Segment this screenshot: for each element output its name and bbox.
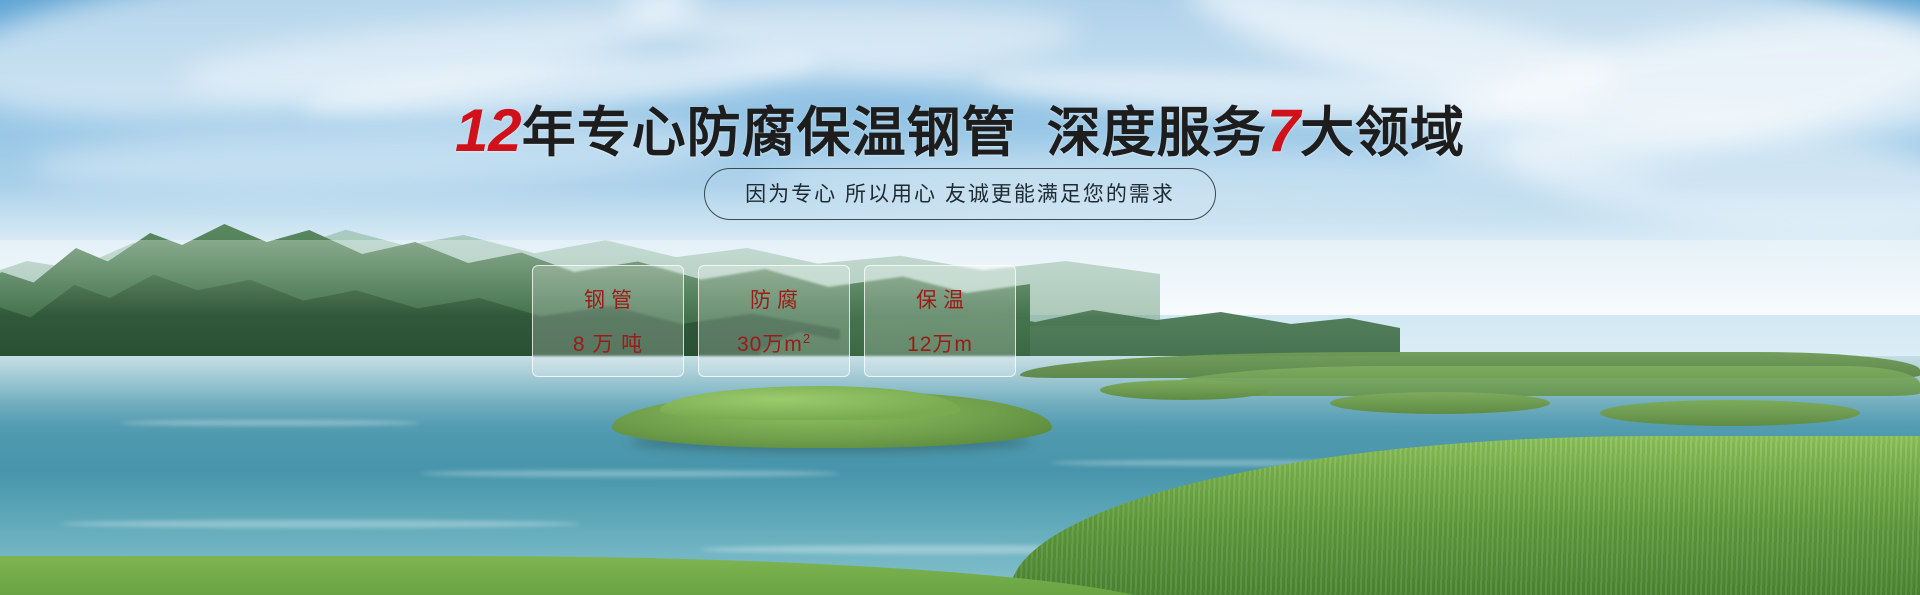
- stat-card-value-text: 30万m: [737, 333, 803, 356]
- stat-card-value-exponent: 2: [803, 331, 811, 346]
- headline-middle: 专心防腐保温钢管: [577, 103, 1017, 163]
- hero-banner: 12年专心防腐保温钢管深度服务7大领域 因为专心 所以用心 友诚更能满足您的需求…: [0, 0, 1920, 595]
- stat-card-steel-pipe[interactable]: 钢管 8 万 吨: [532, 265, 684, 377]
- stat-card-value-text: 8 万 吨: [573, 333, 643, 356]
- headline-domains-suffix: 大领域: [1300, 103, 1465, 163]
- stat-card-anticorrosion[interactable]: 防腐 30万m2: [698, 265, 850, 377]
- stat-card-value: 8 万 吨: [573, 328, 643, 358]
- headline: 12年专心防腐保温钢管深度服务7大领域: [0, 88, 1920, 167]
- stat-card-label: 保温: [910, 284, 970, 314]
- headline-service: 深度服务: [1047, 103, 1267, 163]
- stat-card-value-text: 12万m: [907, 333, 973, 356]
- stat-card-group: 钢管 8 万 吨 防腐 30万m2 保温 12万m: [532, 265, 1016, 377]
- stat-card-label: 防腐: [744, 284, 804, 314]
- headline-years-suffix: 年: [522, 103, 577, 163]
- headline-years-number: 12: [455, 97, 522, 164]
- subtitle-pill: 因为专心 所以用心 友诚更能满足您的需求: [704, 168, 1216, 220]
- stat-card-insulation[interactable]: 保温 12万m: [864, 265, 1016, 377]
- stat-card-value: 12万m: [907, 328, 973, 358]
- headline-domains-number: 7: [1267, 97, 1300, 164]
- stat-card-value: 30万m2: [737, 328, 811, 358]
- banner-content: 12年专心防腐保温钢管深度服务7大领域 因为专心 所以用心 友诚更能满足您的需求…: [0, 0, 1920, 595]
- subtitle-wrapper: 因为专心 所以用心 友诚更能满足您的需求: [0, 168, 1920, 220]
- stat-card-label: 钢管: [578, 284, 638, 314]
